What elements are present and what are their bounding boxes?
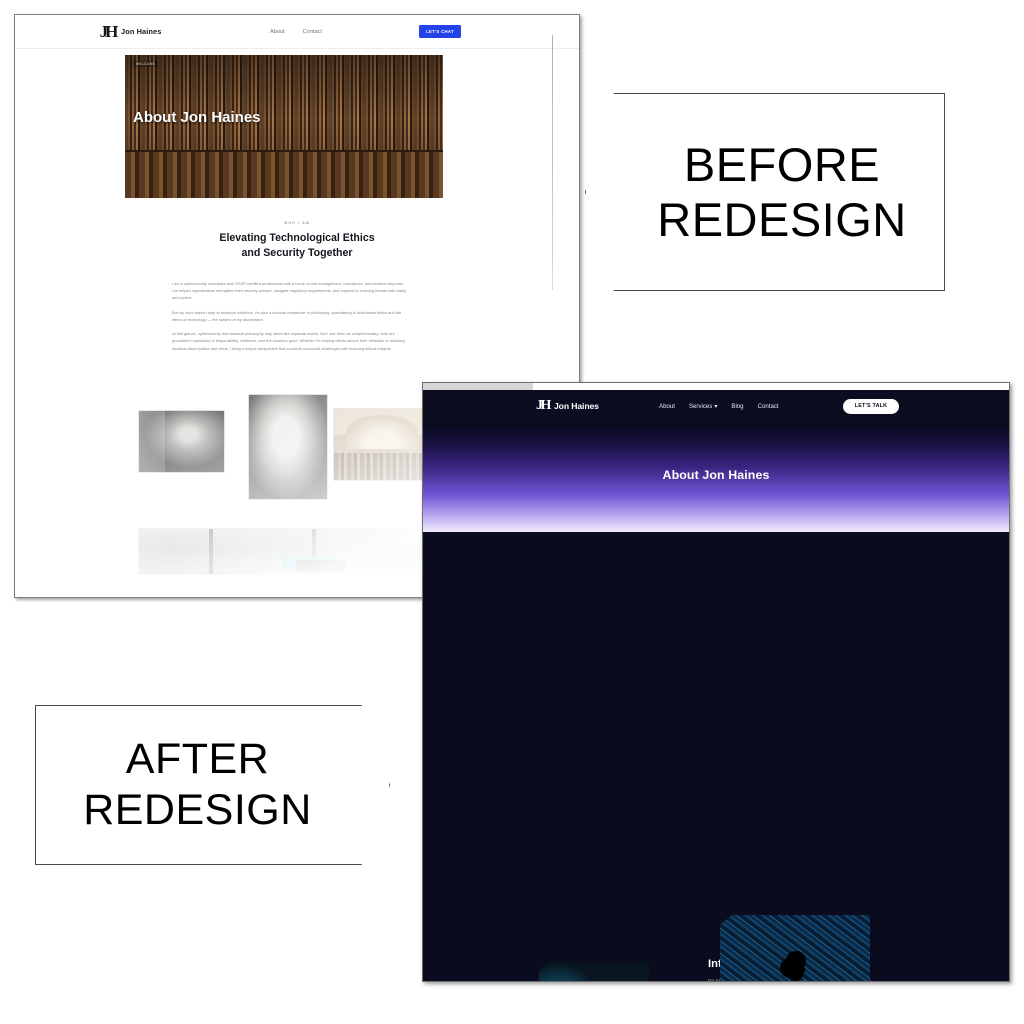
before-section-heading: Elevating Technological Ethics and Secur… — [15, 231, 579, 262]
before-brand-name: Jon Haines — [121, 27, 161, 36]
after-image-circuit-board-keyhole — [720, 915, 870, 982]
after-nav-item-contact[interactable]: Contact — [758, 403, 779, 410]
after-logo[interactable]: JH Jon Haines — [535, 398, 599, 414]
before-cta-button[interactable]: LET'S CHAT — [419, 25, 461, 38]
comparison-board: JH Jon Haines About Contact LET'S CHAT W… — [0, 0, 1024, 1024]
before-image-school-of-athens-fresco — [333, 408, 431, 481]
before-scrollbar[interactable] — [552, 35, 554, 290]
after-nav-item-services[interactable]: Services▾ — [689, 403, 717, 410]
callout-before-line-1: BEFORE — [684, 137, 880, 192]
before-image-cloudy-sky-server-rack — [138, 528, 431, 575]
after-content-area: Intro I'm Jon Haines — a cybersecurity c… — [423, 532, 1009, 981]
before-hero-badge: WELCOME — [133, 61, 158, 67]
before-hero-library-image: WELCOME About Jon Haines — [125, 55, 443, 198]
before-hero-title: About Jon Haines — [133, 107, 283, 129]
jh-monogram-icon: JH — [99, 22, 116, 41]
after-redesign-screenshot: JH Jon Haines About Services▾ Blog Conta… — [422, 382, 1010, 982]
after-nav-item-about[interactable]: About — [659, 403, 675, 410]
before-nav-links: About Contact — [270, 29, 322, 35]
callout-after-line-2: REDESIGN — [83, 785, 312, 836]
before-heading-line-1: Elevating Technological Ethics — [15, 231, 579, 246]
after-nav-links: About Services▾ Blog Contact — [659, 403, 779, 410]
after-browser-chrome-strip — [423, 383, 1009, 390]
after-image-hands-typing-keyboard-hologram — [539, 962, 649, 982]
after-nav-item-blog[interactable]: Blog — [731, 403, 743, 410]
callout-after-redesign: AFTER REDESIGN — [35, 705, 390, 865]
after-nav-services-label: Services — [689, 403, 712, 410]
before-image-hercules-bust — [248, 394, 328, 500]
callout-before-line-2: REDESIGN — [657, 192, 907, 247]
after-navbar: JH Jon Haines About Services▾ Blog Conta… — [423, 390, 1009, 422]
before-section-eyebrow: WHO I AM — [15, 221, 579, 225]
before-nav-item-about[interactable]: About — [270, 29, 285, 35]
before-paragraph: But my work doesn't stop at technical so… — [172, 309, 410, 323]
before-logo[interactable]: JH Jon Haines — [99, 22, 161, 41]
before-nav-item-contact[interactable]: Contact — [303, 29, 322, 35]
before-body-copy: I am a cybersecurity consultant and CISS… — [172, 280, 410, 359]
chevron-down-icon: ▾ — [714, 403, 717, 410]
before-heading-line-2: and Security Together — [15, 246, 579, 261]
jh-monogram-icon: JH — [535, 398, 550, 414]
after-hero-gradient: About Jon Haines — [423, 422, 1009, 532]
callout-after-line-1: AFTER — [126, 734, 269, 785]
before-image-classical-statue-torso — [138, 410, 225, 473]
before-paragraph: At first glance, cybersecurity and class… — [172, 330, 410, 352]
callout-before-redesign: BEFORE REDESIGN — [585, 93, 945, 291]
after-brand-name: Jon Haines — [554, 401, 599, 411]
after-cta-button[interactable]: LET'S TALK — [843, 399, 899, 414]
before-paragraph: I am a cybersecurity consultant and CISS… — [172, 280, 410, 302]
before-navbar: JH Jon Haines About Contact LET'S CHAT — [15, 15, 579, 49]
after-hero-title: About Jon Haines — [663, 468, 770, 482]
